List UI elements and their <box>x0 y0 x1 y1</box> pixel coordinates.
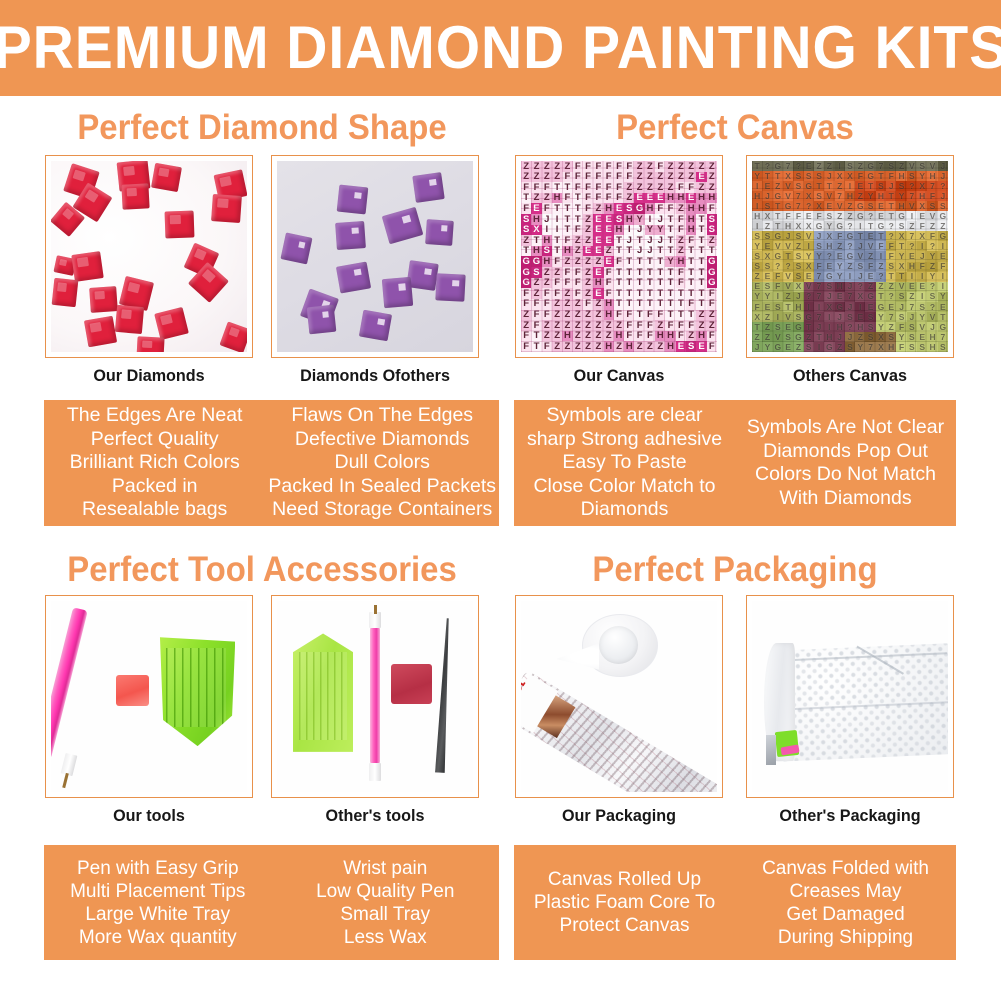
canvas-symbol-cell: ? <box>845 241 855 251</box>
canvas-symbol-cell: S <box>845 342 855 352</box>
canvas-symbol-cell: G <box>707 278 717 289</box>
canvas-symbol-cell: F <box>593 182 603 193</box>
canvas-symbol-cell: H <box>927 342 937 352</box>
canvas-symbol-cell: S <box>917 302 927 312</box>
canvas-symbol-cell: F <box>583 172 593 183</box>
canvas-symbol-cell: T <box>824 181 834 191</box>
canvas-symbol-cell: T <box>665 235 675 246</box>
canvas-symbol-cell: S <box>614 214 624 225</box>
canvas-symbol-cell: F <box>531 310 541 321</box>
canvas-symbol-cell: S <box>521 225 531 236</box>
panel-line: Large White Tray <box>85 903 230 926</box>
canvas-symbol-cell: Y <box>876 312 886 322</box>
panel-line: Symbols Are Not Clear <box>747 416 944 440</box>
canvas-symbol-cell: T <box>531 341 541 352</box>
canvas-symbol-cell: F <box>542 341 552 352</box>
canvas-symbol-cell: S <box>927 201 937 211</box>
canvas-symbol-cell: V <box>927 211 937 221</box>
canvas-symbol-cell: G <box>804 181 814 191</box>
panel-canvas: Symbols are clear sharp Strong adhesive … <box>514 400 956 526</box>
canvas-symbol-cell: Z <box>655 182 665 193</box>
canvas-symbol-cell: I <box>752 221 762 231</box>
canvas-symbol-cell: T <box>752 161 762 171</box>
canvas-symbol-cell: Z <box>624 193 634 204</box>
canvas-symbol-cell: G <box>707 267 717 278</box>
canvas-symbol-cell: G <box>707 256 717 267</box>
canvas-symbol-cell: ? <box>865 211 875 221</box>
canvas-symbol-cell: F <box>573 161 583 172</box>
canvas-symbol-cell: T <box>624 299 634 310</box>
canvas-symbol-cell: F <box>614 193 624 204</box>
canvas-symbol-cell: Z <box>583 341 593 352</box>
canvas-symbol-cell: Z <box>604 331 614 342</box>
canvas-symbol-cell: F <box>707 331 717 342</box>
canvas-symbol-cell: T <box>614 288 624 299</box>
canvas-symbol-cell: F <box>562 267 572 278</box>
canvas-symbol-cell: J <box>783 231 793 241</box>
canvas-symbol-cell: S <box>542 246 552 257</box>
caption-others-packaging: Other's Packaging <box>751 806 949 826</box>
canvas-symbol-cell: 7 <box>835 191 845 201</box>
canvas-symbol-cell: F <box>917 221 927 231</box>
canvas-symbol-cell: F <box>604 172 614 183</box>
canvas-symbol-cell: Z <box>927 262 937 272</box>
canvas-symbol-cell: 7 <box>865 342 875 352</box>
canvas-symbol-cell: X <box>835 171 845 181</box>
canvas-symbol-cell: T <box>686 310 696 321</box>
canvas-symbol-cell: S <box>917 161 927 171</box>
canvas-symbol-cell: T <box>521 246 531 257</box>
canvas-symbol-cell: 7 <box>886 312 896 322</box>
canvas-symbol-cell: Z <box>927 221 937 231</box>
canvas-symbol-cell: Z <box>531 172 541 183</box>
canvas-symbol-cell: H <box>845 191 855 201</box>
canvas-symbol-cell: Z <box>676 203 686 214</box>
canvas-symbol-cell: F <box>686 299 696 310</box>
panel-line: Packed in <box>112 475 198 499</box>
canvas-symbol-cell: Z <box>593 310 603 321</box>
canvas-symbol-cell: Z <box>583 225 593 236</box>
canvas-symbol-cell: Z <box>583 278 593 289</box>
canvas-symbol-cell: T <box>865 221 875 231</box>
canvas-symbol-cell: T <box>614 299 624 310</box>
canvas-symbol-cell: J <box>645 235 655 246</box>
canvas-symbol-cell: G <box>845 231 855 241</box>
canvas-symbol-cell: T <box>886 211 896 221</box>
purple-diamonds-photo <box>277 161 473 352</box>
canvas-symbol-cell: F <box>886 171 896 181</box>
canvas-symbol-cell: S <box>845 161 855 171</box>
canvas-symbol-cell: G <box>855 211 865 221</box>
canvas-symbol-cell: F <box>917 262 927 272</box>
section-heading-diamond-shape: Perfect Diamond Shape <box>57 110 467 145</box>
canvas-symbol-cell: Z <box>665 182 675 193</box>
canvas-symbol-cell: T <box>696 288 706 299</box>
canvas-symbol-cell: H <box>624 214 634 225</box>
canvas-symbol-cell: Z <box>665 172 675 183</box>
canvas-symbol-cell: Z <box>814 161 824 171</box>
canvas-symbol-cell: J <box>917 251 927 261</box>
canvas-symbol-cell: Z <box>583 235 593 246</box>
canvas-symbol-cell: F <box>773 282 783 292</box>
canvas-symbol-cell: H <box>604 310 614 321</box>
canvas-symbol-cell: F <box>655 310 665 321</box>
canvas-symbol-cell: H <box>676 256 686 267</box>
canvas-symbol-cell: F <box>676 182 686 193</box>
canvas-symbol-cell: T <box>696 225 706 236</box>
canvas-symbol-cell: F <box>686 235 696 246</box>
canvas-symbol-cell: E <box>593 225 603 236</box>
canvas-symbol-cell: V <box>773 332 783 342</box>
panel-line: Dull Colors <box>335 451 430 475</box>
canvas-symbol-cell: Y <box>762 342 772 352</box>
canvas-symbol-cell: I <box>804 302 814 312</box>
canvas-symbol-cell: J <box>624 235 634 246</box>
canvas-symbol-cell: E <box>855 312 865 322</box>
canvas-symbol-cell: Z <box>573 256 583 267</box>
canvas-symbol-cell: Z <box>707 310 717 321</box>
canvas-symbol-cell: E <box>917 211 927 221</box>
canvas-symbol-cell: I <box>752 201 762 211</box>
canvas-symbol-cell: Y <box>876 322 886 332</box>
canvas-symbol-cell: Z <box>542 320 552 331</box>
canvas-symbol-cell: F <box>562 172 572 183</box>
canvas-symbol-cell: I <box>814 302 824 312</box>
caption-our-diamonds: Our Diamonds <box>50 366 248 386</box>
panel-line: Plastic Foam Core To <box>534 891 715 914</box>
canvas-symbol-cell: V <box>783 272 793 282</box>
canvas-symbol-cell: Z <box>845 262 855 272</box>
canvas-symbol-cell: Z <box>634 341 644 352</box>
canvas-symbol-cell: F <box>552 288 562 299</box>
canvas-symbol-cell: I <box>876 251 886 261</box>
canvas-symbol-cell: S <box>624 203 634 214</box>
canvas-symbol-cell: S <box>793 262 803 272</box>
canvas-symbol-cell: T <box>552 246 562 257</box>
canvas-symbol-cell: T <box>696 214 706 225</box>
canvas-symbol-cell: J <box>762 191 772 201</box>
section-heading-tool-accessories: Perfect Tool Accessories <box>57 552 467 587</box>
canvas-symbol-cell: S <box>907 322 917 332</box>
canvas-symbol-cell: Z <box>876 282 886 292</box>
canvas-symbol-cell: T <box>624 278 634 289</box>
canvas-symbol-cell: T <box>696 235 706 246</box>
canvas-symbol-cell: T <box>762 171 772 181</box>
canvas-symbol-cell: X <box>824 231 834 241</box>
canvas-symbol-cell: I <box>624 225 634 236</box>
canvas-symbol-cell: F <box>604 278 614 289</box>
canvas-symbol-cell: T <box>645 267 655 278</box>
canvas-symbol-cell: T <box>773 201 783 211</box>
canvas-symbol-cell: J <box>655 235 665 246</box>
canvas-symbol-cell: H <box>562 331 572 342</box>
photo-our-canvas: ZZZZZFFFFFFZZFZZZZZZZZZFFFFFFFZZZZZZEZFF… <box>515 155 723 358</box>
canvas-symbol-cell: J <box>634 246 644 257</box>
others-packaging-photo <box>752 601 948 792</box>
canvas-symbol-cell: F <box>707 299 717 310</box>
canvas-symbol-cell: G <box>804 312 814 322</box>
canvas-symbol-cell: G <box>773 251 783 261</box>
panel-line: Packed In Sealed Packets <box>268 475 496 499</box>
canvas-symbol-cell: T <box>573 193 583 204</box>
canvas-symbol-cell: I <box>552 214 562 225</box>
canvas-symbol-cell: S <box>707 214 717 225</box>
canvas-symbol-cell: F <box>896 322 906 332</box>
pen-needle <box>374 605 377 615</box>
canvas-symbol-cell: E <box>762 302 772 312</box>
canvas-symbol-cell: Z <box>552 172 562 183</box>
canvas-symbol-cell: Z <box>634 182 644 193</box>
canvas-symbol-cell: S <box>896 312 906 322</box>
canvas-symbol-cell: H <box>531 214 541 225</box>
canvas-symbol-cell: T <box>686 256 696 267</box>
canvas-symbol-cell: H <box>604 299 614 310</box>
canvas-symbol-cell: F <box>676 278 686 289</box>
canvas-symbol-cell: T <box>645 299 655 310</box>
canvas-symbol-cell: Y <box>917 312 927 322</box>
canvas-symbol-cell: Z <box>531 193 541 204</box>
canvas-symbol-cell: E <box>938 251 948 261</box>
canvas-symbol-cell: G <box>938 231 948 241</box>
canvas-symbol-cell: S <box>793 312 803 322</box>
canvas-symbol-cell: T <box>696 267 706 278</box>
canvas-symbol-cell: Z <box>665 161 675 172</box>
canvas-symbol-cell: Z <box>552 267 562 278</box>
canvas-symbol-cell: F <box>583 161 593 172</box>
canvas-symbol-cell: S <box>865 201 875 211</box>
muddy-symbol-canvas-photo: T?G7?EZZISZG7SZVSVJYTTXSSSJXXFGTFHSYHJIE… <box>752 161 948 352</box>
panel-tool-accessories: Pen with Easy Grip Multi Placement Tips … <box>44 845 499 960</box>
canvas-symbol-cell: F <box>686 320 696 331</box>
canvas-symbol-cell: Z <box>531 161 541 172</box>
pink-symbol-canvas-photo: ZZZZZFFFFFFZZFZZZZZZZZZFFFFFFFZZZZZZEZFF… <box>521 161 717 352</box>
canvas-symbol-cell: Y <box>927 251 937 261</box>
canvas-symbol-cell: H <box>686 214 696 225</box>
canvas-symbol-cell: S <box>804 342 814 352</box>
canvas-symbol-cell: F <box>573 288 583 299</box>
panel-col-ours: Pen with Easy Grip Multi Placement Tips … <box>44 845 272 960</box>
canvas-symbol-cell: E <box>907 251 917 261</box>
canvas-symbol-cell: Z <box>886 282 896 292</box>
large-green-tray <box>157 637 235 746</box>
canvas-symbol-cell: Z <box>583 256 593 267</box>
canvas-symbol-cell: Z <box>938 221 948 231</box>
canvas-symbol-cell: X <box>783 171 793 181</box>
canvas-symbol-cell: F <box>573 225 583 236</box>
panel-line: Diamonds Pop Out <box>763 440 928 464</box>
canvas-symbol-cell: G <box>521 278 531 289</box>
canvas-symbol-cell: H <box>793 302 803 312</box>
canvas-symbol-cell: T <box>624 256 634 267</box>
canvas-symbol-cell: E <box>752 282 762 292</box>
canvas-symbol-cell: Z <box>521 235 531 246</box>
canvas-symbol-cell: F <box>676 225 686 236</box>
pen-tip <box>60 753 76 776</box>
canvas-symbol-cell: E <box>593 267 603 278</box>
canvas-symbol-cell: T <box>634 278 644 289</box>
canvas-symbol-cell: T <box>665 225 675 236</box>
canvas-symbol-cell: Z <box>562 299 572 310</box>
canvas-symbol-cell: G <box>938 211 948 221</box>
canvas-symbol-cell: ? <box>793 161 803 171</box>
canvas-symbol-cell: X <box>793 282 803 292</box>
canvas-symbol-cell: H <box>752 191 762 201</box>
canvas-symbol-cell: T <box>655 288 665 299</box>
canvas-symbol-cell: ? <box>886 292 896 302</box>
canvas-symbol-cell: F <box>634 320 644 331</box>
canvas-symbol-cell: J <box>896 302 906 312</box>
canvas-tube: JS-011 <box>521 670 717 792</box>
caption-our-packaging: Our Packaging <box>520 806 718 826</box>
canvas-symbol-cell: Z <box>521 161 531 172</box>
canvas-symbol-cell: H <box>686 203 696 214</box>
canvas-symbol-cell: X <box>917 231 927 241</box>
canvas-symbol-cell: T <box>634 256 644 267</box>
small-green-tray <box>293 633 354 751</box>
canvas-symbol-cell: Z <box>696 310 706 321</box>
canvas-symbol-cell: I <box>917 272 927 282</box>
canvas-symbol-cell: V <box>783 312 793 322</box>
panel-line: sharp Strong adhesive <box>527 428 722 452</box>
canvas-symbol-cell: G <box>814 221 824 231</box>
canvas-symbol-cell: T <box>696 246 706 257</box>
canvas-symbol-cell: S <box>907 342 917 352</box>
header-banner: PREMIUM DIAMOND PAINTING KITS <box>0 0 1001 96</box>
canvas-symbol-cell: T <box>655 267 665 278</box>
canvas-symbol-cell: I <box>804 241 814 251</box>
canvas-symbol-cell: F <box>927 231 937 241</box>
canvas-symbol-cell: T <box>665 288 675 299</box>
canvas-symbol-cell: H <box>655 331 665 342</box>
panel-line: The Edges Are Neat <box>67 404 243 428</box>
canvas-symbol-cell: V <box>773 241 783 251</box>
canvas-symbol-cell: Z <box>707 161 717 172</box>
canvas-symbol-cell: Y <box>645 225 655 236</box>
canvas-symbol-cell: E <box>593 235 603 246</box>
canvas-symbol-cell: F <box>552 256 562 267</box>
canvas-symbol-cell: Z <box>552 310 562 321</box>
canvas-symbol-cell: E <box>593 214 603 225</box>
panel-diamond-shape: The Edges Are Neat Perfect Quality Brill… <box>44 400 499 526</box>
canvas-symbol-cell: S <box>927 292 937 302</box>
canvas-symbol-cell: Z <box>835 241 845 251</box>
canvas-symbol-cell: S <box>855 262 865 272</box>
canvas-symbol-cell: E <box>604 235 614 246</box>
canvas-symbol-cell: F <box>542 182 552 193</box>
canvas-symbol-cell: Y <box>896 191 906 201</box>
canvas-symbol-cell: S <box>814 191 824 201</box>
photo-others-diamonds <box>271 155 479 358</box>
canvas-symbol-cell: Z <box>562 288 572 299</box>
canvas-symbol-cell: E <box>824 262 834 272</box>
canvas-symbol-cell: E <box>917 282 927 292</box>
canvas-symbol-cell: T <box>676 310 686 321</box>
canvas-symbol-cell: G <box>773 342 783 352</box>
canvas-symbol-cell: T <box>562 182 572 193</box>
canvas-symbol-cell: Z <box>542 331 552 342</box>
panel-col-theirs: Wrist pain Low Quality Pen Small Tray Le… <box>272 845 500 960</box>
canvas-symbol-cell: J <box>886 181 896 191</box>
canvas-symbol-cell: S <box>762 262 772 272</box>
canvas-symbol-cell: G <box>793 322 803 332</box>
canvas-symbol-cell: Z <box>583 310 593 321</box>
panel-line: Colors Do Not Match <box>755 463 936 487</box>
canvas-symbol-cell: H <box>907 262 917 272</box>
canvas-symbol-cell: Y <box>762 292 772 302</box>
panel-line: Multi Placement Tips <box>70 880 245 903</box>
canvas-symbol-cell: F <box>521 203 531 214</box>
canvas-symbol-cell: Z <box>634 161 644 172</box>
canvas-symbol-cell: S <box>752 262 762 272</box>
tube-cap-spout <box>556 643 599 670</box>
canvas-symbol-cell: T <box>573 214 583 225</box>
canvas-symbol-cell: T <box>634 288 644 299</box>
canvas-symbol-cell: X <box>876 342 886 352</box>
canvas-symbol-cell: Z <box>552 341 562 352</box>
canvas-symbol-cell: ? <box>762 161 772 171</box>
canvas-symbol-cell: ? <box>845 322 855 332</box>
canvas-symbol-cell: I <box>907 211 917 221</box>
canvas-symbol-cell: J <box>907 312 917 322</box>
canvas-symbol-cell: E <box>696 341 706 352</box>
canvas-symbol-cell: X <box>917 181 927 191</box>
canvas-symbol-cell: E <box>583 246 593 257</box>
canvas-symbol-cell: Z <box>542 267 552 278</box>
canvas-symbol-cell: H <box>593 278 603 289</box>
canvas-symbol-cell: Z <box>552 299 562 310</box>
canvas-symbol-cell: F <box>583 193 593 204</box>
canvas-symbol-cell: T <box>814 332 824 342</box>
canvas-symbol-cell: S <box>793 171 803 181</box>
canvas-symbol-cell: J <box>938 191 948 201</box>
canvas-symbol-cell: H <box>824 332 834 342</box>
canvas-symbol-cell: H <box>855 322 865 332</box>
canvas-symbol-cell: Z <box>696 320 706 331</box>
canvas-symbol-cell: Z <box>865 282 875 292</box>
canvas-symbol-cell: T <box>876 171 886 181</box>
canvas-symbol-cell: T <box>773 171 783 181</box>
our-tools-photo <box>51 601 247 792</box>
canvas-symbol-cell: Z <box>752 272 762 282</box>
canvas-symbol-cell: S <box>886 262 896 272</box>
photo-others-packaging <box>746 595 954 798</box>
canvas-symbol-cell: T <box>552 182 562 193</box>
canvas-symbol-cell: Z <box>762 322 772 332</box>
canvas-symbol-cell: H <box>604 341 614 352</box>
canvas-symbol-cell: F <box>593 193 603 204</box>
canvas-symbol-cell: ? <box>886 221 896 231</box>
red-diamonds-photo <box>51 161 247 352</box>
canvas-symbol-cell: S <box>762 282 772 292</box>
canvas-symbol-cell: T <box>686 278 696 289</box>
canvas-symbol-cell: X <box>845 171 855 181</box>
panel-col-ours: Symbols are clear sharp Strong adhesive … <box>514 400 735 526</box>
canvas-symbol-cell: T <box>783 302 793 312</box>
canvas-symbol-cell: I <box>773 312 783 322</box>
canvas-symbol-cell: G <box>521 267 531 278</box>
canvas-symbol-cell: Z <box>583 267 593 278</box>
wax-square <box>391 664 432 704</box>
canvas-symbol-cell: F <box>707 341 717 352</box>
canvas-symbol-cell: E <box>634 193 644 204</box>
canvas-symbol-cell: Z <box>896 161 906 171</box>
canvas-symbol-cell: Z <box>655 172 665 183</box>
canvas-symbol-cell: Z <box>634 172 644 183</box>
canvas-symbol-cell: T <box>676 299 686 310</box>
canvas-symbol-cell: E <box>604 225 614 236</box>
canvas-symbol-cell: T <box>624 246 634 257</box>
canvas-symbol-cell: S <box>707 225 717 236</box>
